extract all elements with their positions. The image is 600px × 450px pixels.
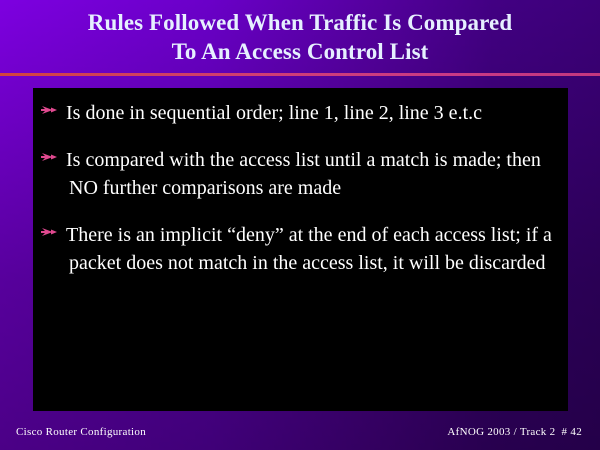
bullet-list: Is done in sequential order; line 1, lin… [33, 99, 568, 277]
footer-left-label: Cisco Router Configuration [16, 425, 146, 439]
footer-right-label: AfNOG 2003 / Track 2 # 42 [447, 425, 582, 439]
arrow-bullet-icon [40, 224, 62, 246]
arrow-bullet-icon [40, 102, 62, 124]
bullet-item-2: Is compared with the access list until a… [33, 146, 568, 202]
content-panel: Is done in sequential order; line 1, lin… [33, 88, 568, 411]
title-divider-rule [0, 73, 600, 76]
bullet-text: There is an implicit “deny” at the end o… [69, 221, 562, 277]
bullet-text: Is compared with the access list until a… [69, 146, 562, 202]
slide-title: Rules Followed When Traffic Is Compared … [0, 8, 600, 66]
slide: Rules Followed When Traffic Is Compared … [0, 0, 600, 450]
bullet-item-1: Is done in sequential order; line 1, lin… [33, 99, 568, 127]
arrow-bullet-icon [40, 149, 62, 171]
bullet-item-3: There is an implicit “deny” at the end o… [33, 221, 568, 277]
bullet-text: Is done in sequential order; line 1, lin… [69, 99, 562, 127]
title-line-1: Rules Followed When Traffic Is Compared [0, 8, 600, 37]
title-line-2: To An Access Control List [0, 37, 600, 66]
